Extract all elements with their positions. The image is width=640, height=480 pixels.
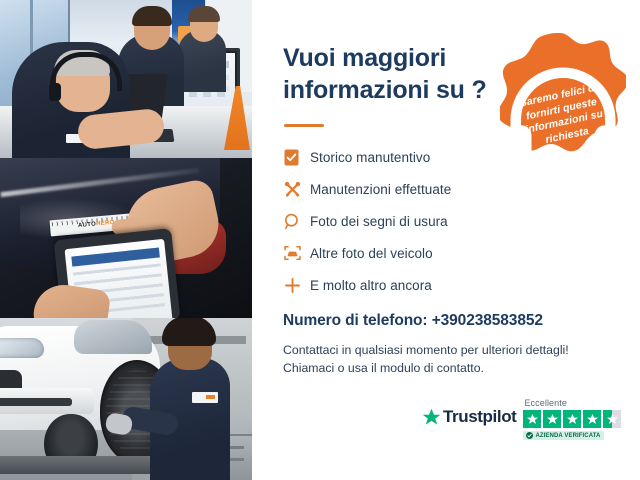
car-scan-icon [284,245,310,261]
trustpilot-stars [523,410,621,428]
content-panel: Vuoi maggiori informazioni su ? Saremo f… [252,0,640,480]
verified-check-icon [526,432,533,439]
contact-subtext: Contattaci in qualsiasi momento per ulte… [283,341,583,377]
photo-column: AUTOHERO [0,0,252,480]
verified-company-badge: AZIENDA VERIFICATA [523,431,604,440]
agent-background-2 [178,30,226,92]
trustpilot-rating: Eccellente [523,398,621,440]
feature-label: E molto altro ancora [310,278,432,293]
star-filled-3 [563,410,581,428]
star-filled-2 [543,410,561,428]
trustpilot-logo: Trustpilot [422,407,516,427]
agent-hair [132,6,172,26]
trustpilot-wordmark: Trustpilot [443,407,516,427]
star-filled-4 [583,410,601,428]
contact-subtext-line-1: Contattaci in qualsiasi momento per ulte… [283,341,583,359]
contact-subtext-line-2: Chiamaci o usa il modulo di contatto. [283,359,583,377]
trustpilot-widget[interactable]: Trustpilot Eccellente [422,398,621,440]
star-half-5 [603,410,621,428]
mechanic-hair [162,318,216,346]
verified-company-label: AZIENDA VERIFICATA [535,433,600,439]
tools-wrench-icon [284,181,310,198]
autohero-ruler-brand: AUTOHERO [78,220,115,229]
plus-icon [284,277,310,294]
title-underline-accent [284,124,324,127]
mechanic-name-badge [192,392,218,403]
magnifier-icon [284,213,310,230]
agent-hair [188,6,220,22]
feature-item-storico-manutentivo: Storico manutentivo [284,142,584,172]
phone-number-line: Numero di telefono: +390238583852 [283,312,543,330]
car-headlight [0,338,44,358]
star-filled-1 [523,410,541,428]
trustpilot-rating-label: Eccellente [524,398,567,408]
trustpilot-star-icon [422,408,441,427]
call-center-agents-photo [0,0,252,158]
feature-label: Storico manutentivo [310,150,430,165]
feature-list: Storico manutentivo Manutenzi [284,142,584,302]
bumper-vent [0,398,72,406]
page-title: Vuoi maggiori informazioni su ? [283,42,533,106]
feature-label: Foto dei segni di usura [310,214,448,229]
callout-badge: Saremo felici di fornirti queste informa… [500,31,626,157]
checkbox-checked-icon [284,149,310,166]
vehicle-lift [0,456,150,474]
feature-item-altre-foto-veicolo: Altre foto del veicolo [284,238,584,268]
autohero-contact-ad: AUTOHERO [0,0,640,480]
car-windshield [74,320,152,354]
mechanic [150,358,230,480]
workshop-tire-check-photo [0,318,252,480]
feature-item-foto-segni-usura: Foto dei segni di usura [284,206,584,236]
feature-item-manutenzioni-effettuate: Manutenzioni effettuate [284,174,584,204]
feature-item-molto-altro: E molto altro ancora [284,270,584,300]
feature-label: Altre foto del veicolo [310,246,433,261]
vehicle-inspection-ruler-photo: AUTOHERO [0,158,252,318]
feature-label: Manutenzioni effettuate [310,182,451,197]
